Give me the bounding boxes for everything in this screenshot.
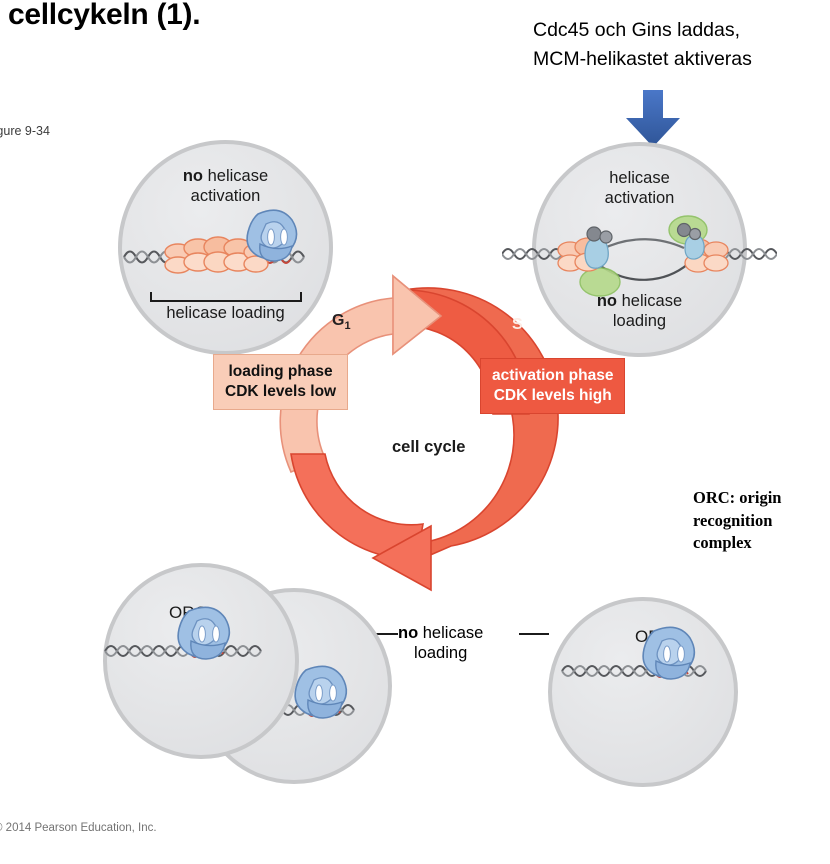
mid-label-rest: helicase xyxy=(418,624,483,642)
orc-on-dna-illustration xyxy=(103,563,299,759)
activation-phase-line-1: activation phase xyxy=(492,366,613,386)
copyright-notice: © 2014 Pearson Education, Inc. xyxy=(0,822,157,834)
orc-legend: ORC: origin recognition complex xyxy=(693,487,781,555)
orc-on-dna-illustration xyxy=(548,597,744,787)
annotation-cdc45-gins: Cdc45 och Gins laddas, MCM-helikastet ak… xyxy=(533,16,752,74)
annotation-line-1: Cdc45 och Gins laddas, xyxy=(533,16,752,45)
mid-label-bold: no xyxy=(398,624,418,642)
phase-label-s: S xyxy=(512,316,523,334)
orc-legend-line-1: ORC: origin xyxy=(693,487,781,510)
phase-label-g1: G1 xyxy=(332,312,351,332)
cell-top-right-label-bottom-line2: loading xyxy=(613,312,666,330)
cycle-arc-s-g2 xyxy=(405,288,558,566)
cell-bottom-right: ORC xyxy=(548,597,738,787)
phase-label-g2: G2 xyxy=(525,527,544,547)
figure-caption: Figure 9-34 xyxy=(0,124,50,138)
cell-cycle-caption: cell cycle xyxy=(392,438,465,457)
loading-phase-line-2: CDK levels low xyxy=(225,382,336,402)
orc-legend-line-3: complex xyxy=(693,532,781,555)
cycle-arc-m xyxy=(291,454,431,590)
mid-label-line-2: loading xyxy=(414,644,467,662)
cell-bottom-left-upper: ORC xyxy=(103,563,299,759)
activation-phase-box: activation phase CDK levels high xyxy=(480,358,625,414)
phase-label-m: M xyxy=(311,530,324,548)
cell-top-right-label-rest: helicase xyxy=(617,292,682,310)
loading-phase-box: loading phase CDK levels low xyxy=(213,354,348,410)
no-helicase-loading-label: no helicase loading xyxy=(398,623,483,663)
slide-canvas: cellcykeln (1). Figure 9-34 Cdc45 och Gi… xyxy=(0,0,830,864)
activation-phase-line-2: CDK levels high xyxy=(492,386,613,406)
orc-legend-line-2: recognition xyxy=(693,510,781,533)
page-title: cellcykeln (1). xyxy=(8,0,200,32)
leader-line-right xyxy=(519,633,549,635)
loading-phase-line-1: loading phase xyxy=(225,362,336,382)
cell-top-right-label-bold: no xyxy=(597,292,617,310)
annotation-line-2: MCM-helikastet aktiveras xyxy=(533,45,752,74)
